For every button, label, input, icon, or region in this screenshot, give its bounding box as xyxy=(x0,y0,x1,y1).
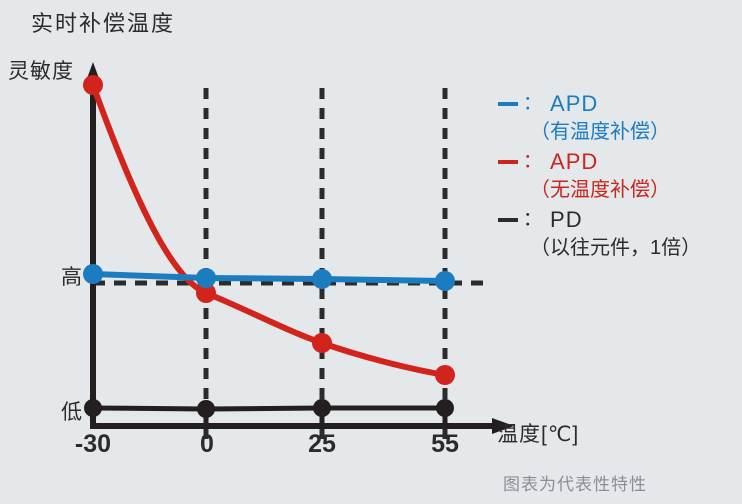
legend-separator-red: ： xyxy=(523,148,542,176)
legend-sublabel-apd-uncompensated: （无温度补偿） xyxy=(498,176,742,204)
legend-label-pd-legacy: PD xyxy=(550,206,583,234)
legend-sublabel-apd-compensated: （有温度补偿） xyxy=(498,118,742,146)
y-axis-label: 灵敏度 xyxy=(8,55,74,85)
legend-label-apd-uncompensated: APD xyxy=(550,148,598,176)
footnote: 图表为代表性特性 xyxy=(503,470,647,495)
x-tick-55: 55 xyxy=(405,430,485,459)
legend-item-apd-compensated: ： APD （有温度补偿） xyxy=(498,90,742,146)
x-tick-0: 0 xyxy=(167,430,247,459)
series-apd-uncompensated xyxy=(83,75,455,385)
series-apd-compensated xyxy=(83,264,455,291)
gridlines-vertical xyxy=(206,88,445,440)
legend-line-icon-blue xyxy=(498,102,518,106)
y-tick-low: 低 xyxy=(22,396,82,426)
x-tick-25: 25 xyxy=(282,430,362,459)
legend: ： APD （有温度补偿） ： APD （无温度补偿） ： PD （以往元件，1… xyxy=(498,90,742,264)
x-axis-label: 温度[℃] xyxy=(497,418,579,448)
legend-line-icon-black xyxy=(498,218,518,222)
legend-label-apd-compensated: APD xyxy=(550,90,598,118)
legend-line-icon-red xyxy=(498,160,518,164)
x-tick-minus30: -30 xyxy=(53,430,133,459)
legend-separator-black: ： xyxy=(523,206,542,234)
legend-item-pd-legacy: ： PD （以往元件，1倍） xyxy=(498,206,742,262)
chart-root: 实时补偿温度 xyxy=(0,0,742,504)
legend-separator-blue: ： xyxy=(523,90,542,118)
legend-item-apd-uncompensated: ： APD （无温度补偿） xyxy=(498,148,742,204)
y-tick-high: 高 xyxy=(22,261,82,291)
series-pd-legacy xyxy=(84,399,454,418)
legend-sublabel-pd-legacy: （以往元件，1倍） xyxy=(498,234,742,262)
